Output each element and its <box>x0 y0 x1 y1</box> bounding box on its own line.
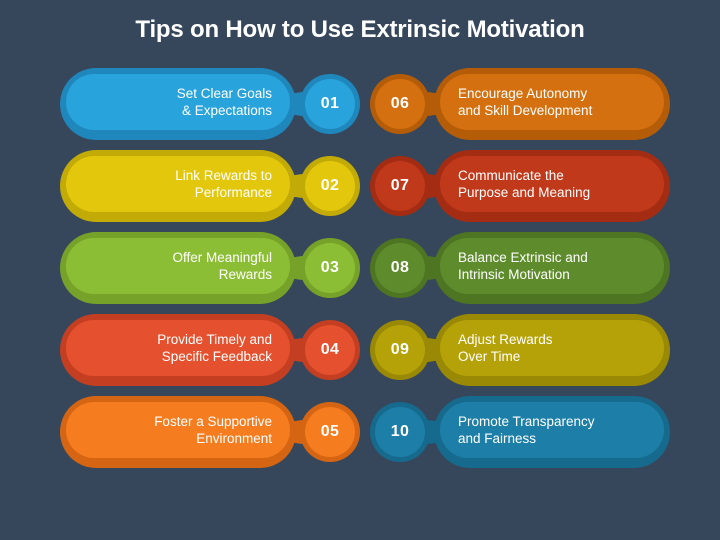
tip-badge-number: 08 <box>391 259 409 277</box>
tip-badge[interactable]: 01 <box>305 79 355 129</box>
tip-row[interactable]: Provide Timely and Specific Feedback04 <box>60 314 360 386</box>
tip-badge[interactable]: 03 <box>305 243 355 293</box>
tip-pill[interactable]: Communicate the Purpose and Meaning <box>440 156 664 212</box>
tip-label: Provide Timely and Specific Feedback <box>157 331 272 365</box>
tip-row[interactable]: Offer Meaningful Rewards03 <box>60 232 360 304</box>
tip-label: Adjust Rewards Over Time <box>458 331 553 365</box>
tip-label: Balance Extrinsic and Intrinsic Motivati… <box>458 249 588 283</box>
tip-badge[interactable]: 10 <box>375 407 425 457</box>
tip-label: Encourage Autonomy and Skill Development <box>458 85 592 119</box>
tip-badge-number: 03 <box>321 259 339 277</box>
tip-badge-number: 02 <box>321 177 339 195</box>
tip-row[interactable]: Promote Transparency and Fairness10 <box>370 396 670 468</box>
tip-badge-number: 05 <box>321 423 339 441</box>
tip-pill[interactable]: Adjust Rewards Over Time <box>440 320 664 376</box>
tip-pill[interactable]: Balance Extrinsic and Intrinsic Motivati… <box>440 238 664 294</box>
tip-badge[interactable]: 05 <box>305 407 355 457</box>
tip-badge-number: 09 <box>391 341 409 359</box>
tip-row[interactable]: Foster a Supportive Environment05 <box>60 396 360 468</box>
tip-badge-number: 01 <box>321 95 339 113</box>
tip-pill[interactable]: Encourage Autonomy and Skill Development <box>440 74 664 130</box>
tip-badge[interactable]: 06 <box>375 79 425 129</box>
tip-pill[interactable]: Provide Timely and Specific Feedback <box>66 320 290 376</box>
tips-board: Set Clear Goals & Expectations01Link Rew… <box>0 68 720 488</box>
tip-badge[interactable]: 02 <box>305 161 355 211</box>
tip-row[interactable]: Encourage Autonomy and Skill Development… <box>370 68 670 140</box>
tip-row[interactable]: Set Clear Goals & Expectations01 <box>60 68 360 140</box>
tip-pill[interactable]: Promote Transparency and Fairness <box>440 402 664 458</box>
tip-pill[interactable]: Set Clear Goals & Expectations <box>66 74 290 130</box>
tip-badge[interactable]: 08 <box>375 243 425 293</box>
tip-pill[interactable]: Offer Meaningful Rewards <box>66 238 290 294</box>
tip-badge-number: 07 <box>391 177 409 195</box>
tip-badge[interactable]: 07 <box>375 161 425 211</box>
tip-row[interactable]: Balance Extrinsic and Intrinsic Motivati… <box>370 232 670 304</box>
tip-label: Promote Transparency and Fairness <box>458 413 595 447</box>
tip-badge[interactable]: 09 <box>375 325 425 375</box>
page-title: Tips on How to Use Extrinsic Motivation <box>0 16 720 44</box>
tips-column-right: Encourage Autonomy and Skill Development… <box>370 68 670 488</box>
tip-label: Offer Meaningful Rewards <box>172 249 272 283</box>
tip-badge-number: 06 <box>391 95 409 113</box>
tip-badge-number: 10 <box>391 423 409 441</box>
tip-row[interactable]: Communicate the Purpose and Meaning07 <box>370 150 670 222</box>
tip-label: Link Rewards to Performance <box>175 167 272 201</box>
tip-row[interactable]: Adjust Rewards Over Time09 <box>370 314 670 386</box>
tips-column-left: Set Clear Goals & Expectations01Link Rew… <box>60 68 360 488</box>
tip-label: Foster a Supportive Environment <box>154 413 272 447</box>
tip-row[interactable]: Link Rewards to Performance02 <box>60 150 360 222</box>
tip-pill[interactable]: Foster a Supportive Environment <box>66 402 290 458</box>
tip-label: Communicate the Purpose and Meaning <box>458 167 590 201</box>
tip-badge[interactable]: 04 <box>305 325 355 375</box>
tip-badge-number: 04 <box>321 341 339 359</box>
tip-pill[interactable]: Link Rewards to Performance <box>66 156 290 212</box>
tip-label: Set Clear Goals & Expectations <box>177 85 272 119</box>
